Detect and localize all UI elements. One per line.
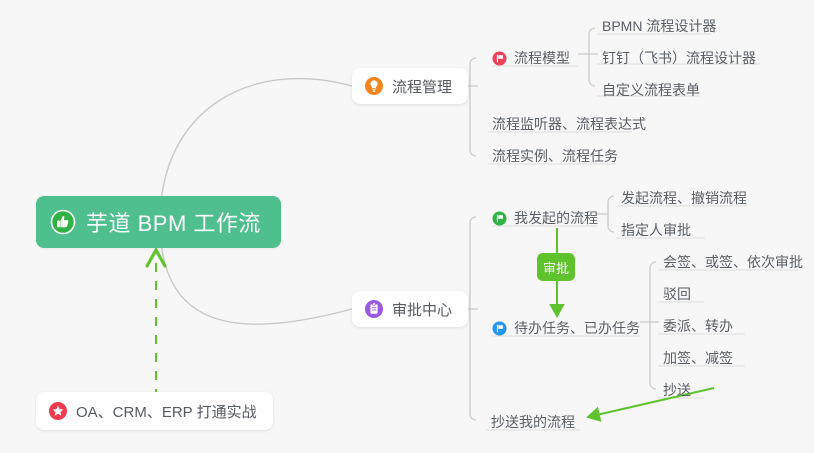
node-label-bpmn-designer: BPMN 流程设计器 bbox=[602, 17, 716, 35]
node-label-custom-process-form: 自定义流程表单 bbox=[602, 81, 700, 99]
branch-node-approval-center[interactable]: 审批中心 bbox=[352, 291, 468, 327]
node-bpmn-designer[interactable]: BPMN 流程设计器 bbox=[598, 8, 722, 38]
node-my-started-processes[interactable]: 我发起的流程 bbox=[488, 200, 604, 230]
mindmap-canvas: 芋道 BPM 工作流 OA、CRM、ERP 打通实战 流程管理 bbox=[0, 0, 814, 453]
node-cc-to-me-processes[interactable]: 抄送我的流程 bbox=[487, 404, 581, 434]
node-label-reject: 驳回 bbox=[663, 285, 691, 303]
node-delegate-transfer[interactable]: 委派、转办 bbox=[659, 308, 739, 338]
node-label-add-remove-sign: 加签、减签 bbox=[663, 349, 733, 367]
star-circle-icon bbox=[48, 401, 68, 421]
node-label-process-model: 流程模型 bbox=[514, 49, 570, 67]
node-start-cancel-process[interactable]: 发起流程、撤销流程 bbox=[617, 180, 753, 210]
node-reject[interactable]: 驳回 bbox=[659, 276, 697, 306]
node-label-process-listener-expression: 流程监听器、流程表达式 bbox=[492, 115, 646, 133]
clipboard-circle-icon bbox=[364, 299, 384, 319]
branch-node-process-management[interactable]: 流程管理 bbox=[352, 68, 468, 104]
lightbulb-circle-icon bbox=[364, 76, 384, 96]
node-label-cc: 抄送 bbox=[663, 381, 691, 399]
node-assignee-approval[interactable]: 指定人审批 bbox=[617, 212, 697, 242]
note-label: OA、CRM、ERP 打通实战 bbox=[76, 401, 257, 422]
node-todo-done-tasks[interactable]: 待办任务、已办任务 bbox=[488, 310, 646, 340]
node-label-process-instance-task: 流程实例、流程任务 bbox=[492, 147, 618, 165]
connector-process-model-trunk bbox=[589, 28, 595, 86]
node-process-model[interactable]: 流程模型 bbox=[488, 40, 576, 70]
node-label-start-cancel-process: 发起流程、撤销流程 bbox=[621, 189, 747, 207]
flag-circle-green-icon bbox=[492, 211, 507, 226]
node-label-my-started-processes: 我发起的流程 bbox=[514, 209, 598, 227]
flag-circle-red-icon bbox=[492, 51, 507, 66]
node-countersign-modes[interactable]: 会签、或签、依次审批 bbox=[659, 244, 809, 274]
root-node[interactable]: 芋道 BPM 工作流 bbox=[36, 196, 281, 248]
node-label-delegate-transfer: 委派、转办 bbox=[663, 317, 733, 335]
node-label-cc-to-me-processes: 抄送我的流程 bbox=[491, 413, 575, 431]
note-node-integration[interactable]: OA、CRM、ERP 打通实战 bbox=[36, 392, 273, 430]
connector-my-started-trunk bbox=[608, 196, 614, 232]
branch-label-approval-center: 审批中心 bbox=[392, 299, 452, 320]
connector-todo-tasks-trunk bbox=[650, 262, 656, 389]
node-label-dingtalk-designer: 钉钉（飞书）流程设计器 bbox=[602, 49, 756, 67]
node-label-countersign-modes: 会签、或签、依次审批 bbox=[663, 253, 803, 271]
flag-circle-blue-icon bbox=[492, 321, 507, 336]
connector-process-mgmt-trunk bbox=[470, 58, 476, 156]
node-process-listener-expression[interactable]: 流程监听器、流程表达式 bbox=[488, 106, 652, 136]
node-label-todo-done-tasks: 待办任务、已办任务 bbox=[514, 319, 640, 337]
node-cc[interactable]: 抄送 bbox=[659, 372, 697, 402]
node-custom-process-form[interactable]: 自定义流程表单 bbox=[598, 72, 706, 102]
root-label: 芋道 BPM 工作流 bbox=[86, 206, 261, 238]
annotation-tag-approval-label: 审批 bbox=[543, 258, 569, 277]
connector-approval-center-trunk bbox=[470, 217, 476, 420]
node-label-assignee-approval: 指定人审批 bbox=[621, 221, 691, 239]
thumbs-up-circle-icon bbox=[50, 209, 76, 235]
node-process-instance-task[interactable]: 流程实例、流程任务 bbox=[488, 138, 624, 168]
annotation-tag-approval: 审批 bbox=[537, 253, 575, 281]
branch-label-process-management: 流程管理 bbox=[392, 76, 452, 97]
node-dingtalk-designer[interactable]: 钉钉（飞书）流程设计器 bbox=[598, 40, 762, 70]
node-add-remove-sign[interactable]: 加签、减签 bbox=[659, 340, 739, 370]
